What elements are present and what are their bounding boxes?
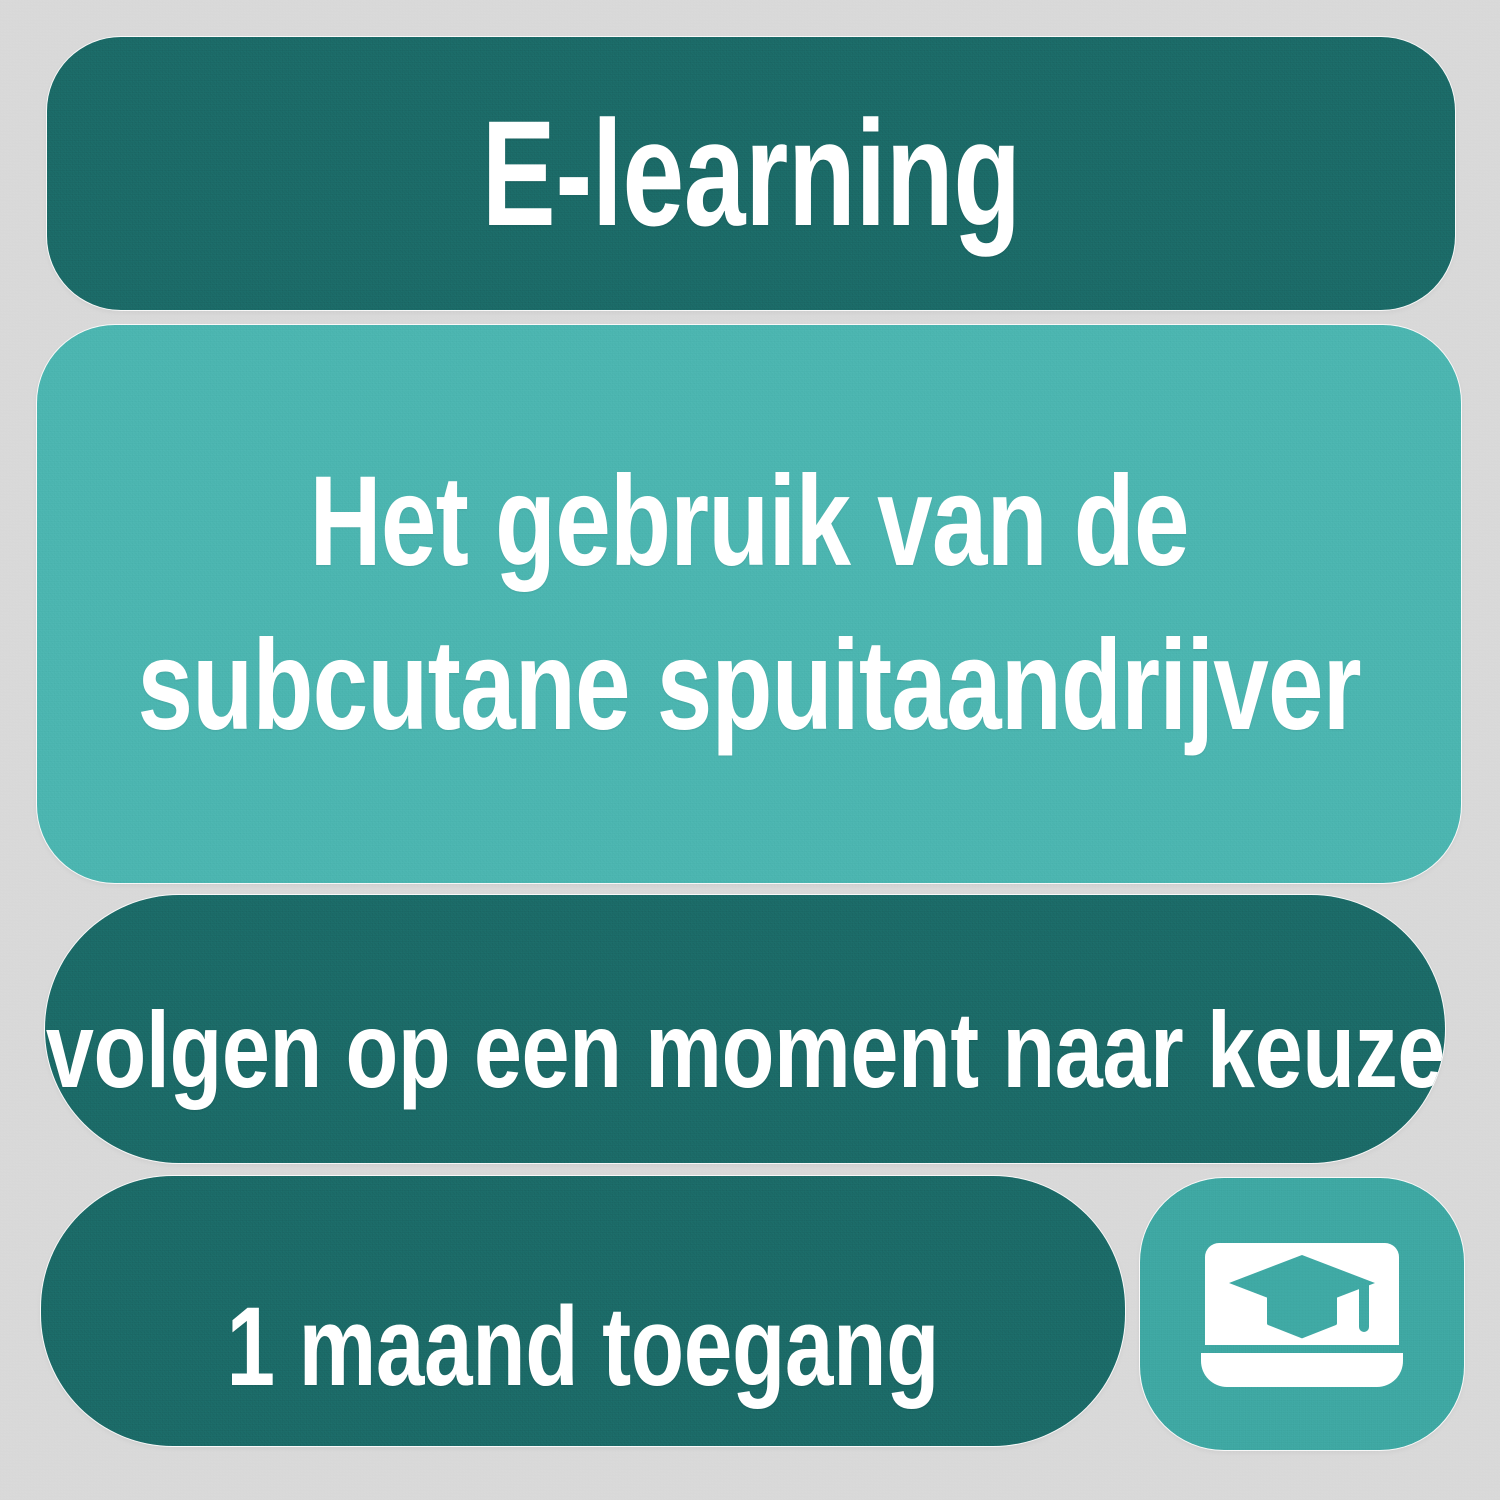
banner-availability: volgen op een moment naar keuze (45, 895, 1445, 1163)
laptop-graduation-cap-icon (1197, 1229, 1407, 1399)
subject-text-block: Het gebruik van de subcutane spuitaandri… (137, 440, 1360, 768)
banner-title: E-learning (47, 37, 1455, 310)
availability-label: volgen op een moment naar keuze (45, 995, 1444, 1105)
banner-subject: Het gebruik van de subcutane spuitaandri… (37, 325, 1461, 883)
banner-duration: 1 maand toegang (41, 1176, 1125, 1446)
subject-line-2: subcutane spuitaandrijver (137, 604, 1360, 768)
elearning-icon-tile (1140, 1178, 1464, 1450)
page-title: E-learning (481, 97, 1020, 250)
subject-line-1: Het gebruik van de (137, 440, 1360, 604)
duration-label: 1 maand toegang (227, 1290, 940, 1404)
promo-card: E-learning Het gebruik van de subcutane … (0, 0, 1500, 1500)
